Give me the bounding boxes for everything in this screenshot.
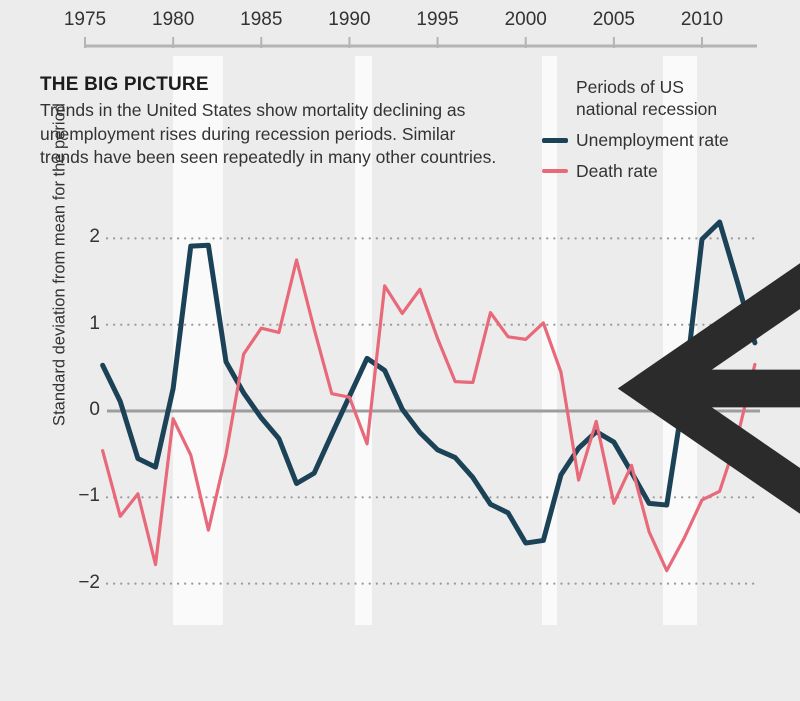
left-arrow-icon [540, 76, 576, 98]
chart-figure: 19751980198519901995200020052010 210−1−2… [0, 0, 800, 625]
caption-body: Trends in the United States show mortali… [40, 99, 500, 170]
caption-block: THE BIG PICTURE Trends in the United Sta… [40, 74, 500, 170]
legend-swatch-unemployment [540, 129, 576, 151]
caption-heading: THE BIG PICTURE [40, 74, 500, 96]
legend-swatch-death [540, 160, 576, 182]
legend-item-recession[interactable]: Periods of US national recession [540, 76, 729, 120]
top-axis-ruler [85, 37, 757, 48]
legend: Periods of US national recession Unemplo… [540, 76, 729, 191]
